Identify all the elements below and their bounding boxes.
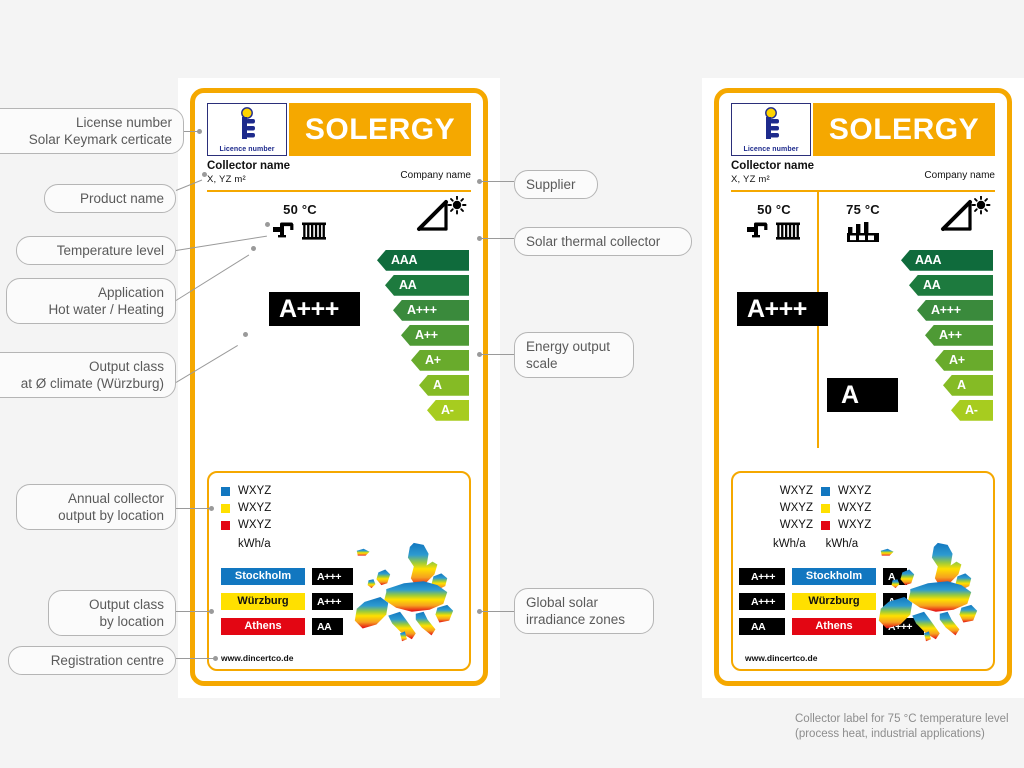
collector-label-75c: Licence number SOLERGY Collector name X,…	[714, 88, 1012, 686]
arrow-tip	[334, 619, 343, 635]
leader-line	[480, 238, 514, 239]
scale-row: AAA	[895, 250, 993, 271]
legend-value-right: WXYZ	[838, 483, 871, 500]
scale-bar-app: A++	[401, 325, 469, 346]
scale-row: A	[895, 375, 993, 396]
leader-line	[480, 181, 514, 182]
scale-row: A-	[895, 400, 993, 421]
city-class-list: StockholmA+++WürzburgA+++AthensAA	[221, 568, 353, 643]
radiator-icon	[775, 221, 801, 241]
solar-thermal-collector-icon	[415, 196, 467, 238]
class-arrow-left: A+++	[739, 568, 785, 585]
callout-application: Application Hot water / Heating	[6, 278, 176, 324]
class-value: A+++	[312, 571, 344, 583]
company-name: Company name	[400, 170, 471, 181]
temperature-value: 75 °C	[823, 202, 903, 217]
class-value: A+++	[748, 571, 780, 583]
collector-area: X, YZ m²	[207, 174, 290, 185]
callout-registration-centre: Registration centre	[8, 646, 176, 675]
registration-website: www.dincertco.de	[745, 653, 817, 663]
keymark-licence-label: Licence number	[732, 146, 810, 153]
leader-line	[480, 354, 514, 355]
legend-item: WXYZ	[221, 483, 457, 500]
city-name-chip: Athens	[221, 618, 305, 635]
scale-row: AAA	[371, 250, 469, 271]
europe-irradiance-map	[867, 537, 985, 655]
class-arrow-right: AA	[312, 618, 343, 635]
scale-bar-appp: A+++	[917, 300, 993, 321]
legend-value: WXYZ	[238, 517, 271, 534]
europe-irradiance-map	[343, 537, 461, 655]
collector-name: Collector name	[207, 160, 290, 173]
leader-dot	[477, 236, 482, 241]
leader-line	[176, 508, 210, 509]
keymark-logo-icon	[756, 107, 786, 141]
scale-bar-am: A-	[951, 400, 993, 421]
leader-dot	[477, 179, 482, 184]
callout-supplier: Supplier	[514, 170, 598, 199]
callout-product-name: Product name	[44, 184, 176, 213]
scale-row: A-	[371, 400, 469, 421]
label-body: 50 °C	[207, 192, 471, 460]
scale-row: A+++	[371, 300, 469, 321]
city-name-chip: Stockholm	[792, 568, 876, 585]
legend-color-swatch	[221, 487, 230, 496]
legend-color-swatch	[821, 487, 830, 496]
callout-annual-output: Annual collector output by location	[16, 484, 176, 530]
scale-bar-appp: A+++	[393, 300, 469, 321]
city-name-chip: Athens	[792, 618, 876, 635]
scale-row: A++	[895, 325, 993, 346]
legend-color-swatch	[821, 521, 830, 530]
legend-value-right: WXYZ	[838, 500, 871, 517]
class-value: AA	[748, 621, 770, 633]
scale-bar-app: A++	[925, 325, 993, 346]
legend-item: WXYZ	[221, 500, 457, 517]
temperature-value: 50 °C	[255, 202, 345, 217]
scale-bar-a: A	[943, 375, 993, 396]
figure-caption: Collector label for 75 °C temperature le…	[795, 712, 1024, 742]
legend-unit-left: kWh/a	[773, 538, 806, 550]
scale-row: A+	[895, 350, 993, 371]
scale-bar-ap: A+	[411, 350, 469, 371]
location-output-panel: WXYZWXYZWXYZ kWh/a StockholmA+++Würzburg…	[207, 471, 471, 671]
temperature-column-75c: 75 °C	[823, 202, 903, 243]
solergy-brand-bar: SOLERGY	[289, 103, 471, 156]
city-row: WürzburgA+++	[221, 593, 353, 610]
leader-dot	[197, 129, 202, 134]
leader-line	[480, 611, 514, 612]
leader-line	[176, 611, 210, 612]
keymark-licence-label: Licence number	[208, 146, 286, 153]
legend-item: WXYZWXYZ	[773, 483, 981, 500]
scale-bar-am: A-	[427, 400, 469, 421]
scale-row: A+++	[895, 300, 993, 321]
radiator-icon	[301, 221, 327, 241]
callout-output-class-by-location: Output class by location	[48, 590, 176, 636]
arrow-tip	[739, 594, 748, 610]
leader-dot	[477, 609, 482, 614]
class-value: AA	[312, 621, 334, 633]
registration-website: www.dincertco.de	[221, 653, 293, 663]
output-class-value: A+++	[737, 292, 811, 326]
output-class-value: A+++	[269, 292, 343, 326]
class-arrow-left: A+++	[739, 593, 785, 610]
leader-line	[176, 658, 214, 659]
legend-value-left: WXYZ	[773, 517, 813, 534]
label-name-row: Collector name X, YZ m² Company name	[207, 160, 471, 185]
temperature-column-50c: 50 °C	[731, 202, 817, 242]
legend-list: WXYZWXYZWXYZWXYZWXYZWXYZ	[745, 483, 981, 534]
callout-temperature-level: Temperature level	[16, 236, 176, 265]
city-row: StockholmA+++	[221, 568, 353, 585]
keymark-badge: Licence number	[207, 103, 287, 156]
scale-row: A++	[371, 325, 469, 346]
location-output-panel: WXYZWXYZWXYZWXYZWXYZWXYZ kWh/a kWh/a A++…	[731, 471, 995, 671]
leader-dot	[477, 352, 482, 357]
legend-color-swatch	[221, 504, 230, 513]
screenshot-stage: Licence number SOLERGY Collector name X,…	[0, 0, 1024, 768]
callout-output-class: Output class at Ø climate (Würzburg)	[0, 352, 176, 398]
keymark-badge: Licence number	[731, 103, 811, 156]
factory-icon	[846, 221, 880, 243]
collector-name: Collector name	[731, 160, 814, 173]
scale-row: AA	[371, 275, 469, 296]
output-class-arrow-50c: A+++	[269, 292, 360, 326]
scale-row: A+	[371, 350, 469, 371]
class-value: A+++	[748, 596, 780, 608]
leader-dot	[209, 609, 214, 614]
legend-unit-right: kWh/a	[826, 538, 859, 550]
scale-bar-ap: A+	[935, 350, 993, 371]
legend-value-left: WXYZ	[773, 500, 813, 517]
label-header: Licence number SOLERGY	[731, 103, 995, 156]
leader-dot	[251, 246, 256, 251]
collector-label-50c: Licence number SOLERGY Collector name X,…	[190, 88, 488, 686]
scale-row: A	[371, 375, 469, 396]
arrow-tip	[739, 619, 748, 635]
callout-irradiance-zones: Global solar irradiance zones	[514, 588, 654, 634]
callout-solar-thermal-collector: Solar thermal collector	[514, 227, 692, 256]
arrow-tip	[739, 569, 748, 585]
brand-name: SOLERGY	[305, 113, 455, 147]
arrow-tip	[343, 292, 360, 326]
legend-item: WXYZWXYZ	[773, 500, 981, 517]
legend-color-swatch	[221, 521, 230, 530]
label-name-row: Collector name X, YZ m² Company name	[731, 160, 995, 185]
scale-bar-aa: AA	[909, 275, 993, 296]
legend-color-swatch	[821, 504, 830, 513]
keymark-logo-icon	[232, 107, 262, 141]
city-name-chip: Würzburg	[792, 593, 876, 610]
leader-dot	[213, 656, 218, 661]
tap-icon	[273, 221, 297, 242]
legend-item: WXYZ	[221, 517, 457, 534]
legend-value-left: WXYZ	[773, 483, 813, 500]
city-name-chip: Stockholm	[221, 568, 305, 585]
scale-bar-aaa: AAA	[377, 250, 469, 271]
solergy-brand-bar: SOLERGY	[813, 103, 995, 156]
city-name-chip: Würzburg	[221, 593, 305, 610]
legend-value-right: WXYZ	[838, 517, 871, 534]
scale-bar-a: A	[419, 375, 469, 396]
legend-value: WXYZ	[238, 500, 271, 517]
leader-dot	[202, 172, 207, 177]
output-class-value: A	[827, 378, 881, 412]
leader-dot	[209, 506, 214, 511]
tap-icon	[747, 221, 771, 242]
leader-dot	[265, 222, 270, 227]
output-class-arrow-50c: A+++	[737, 292, 828, 326]
legend-item: WXYZWXYZ	[773, 517, 981, 534]
energy-output-scale: AAAAAA+++A++A+AA-	[371, 250, 469, 425]
output-class-arrow-75c: A	[827, 378, 898, 412]
leader-dot	[243, 332, 248, 337]
city-row: AthensAA	[221, 618, 353, 635]
brand-name: SOLERGY	[829, 113, 979, 147]
label-header: Licence number SOLERGY	[207, 103, 471, 156]
legend-list: WXYZWXYZWXYZ	[221, 483, 457, 534]
scale-bar-aaa: AAA	[901, 250, 993, 271]
arrow-tip	[811, 292, 828, 326]
callout-energy-output-scale: Energy output scale	[514, 332, 634, 378]
legend-value: WXYZ	[238, 483, 271, 500]
class-value: A+++	[312, 596, 344, 608]
solar-thermal-collector-icon	[939, 196, 991, 238]
scale-row: AA	[895, 275, 993, 296]
label-body: 50 °C	[731, 192, 995, 460]
company-name: Company name	[924, 170, 995, 181]
collector-area: X, YZ m²	[731, 174, 814, 185]
energy-output-scale: AAAAAA+++A++A+AA-	[895, 250, 993, 425]
callout-license-number: License number Solar Keymark certicate	[0, 108, 184, 154]
class-arrow-left: AA	[739, 618, 785, 635]
temperature-value: 50 °C	[731, 202, 817, 217]
scale-bar-aa: AA	[385, 275, 469, 296]
